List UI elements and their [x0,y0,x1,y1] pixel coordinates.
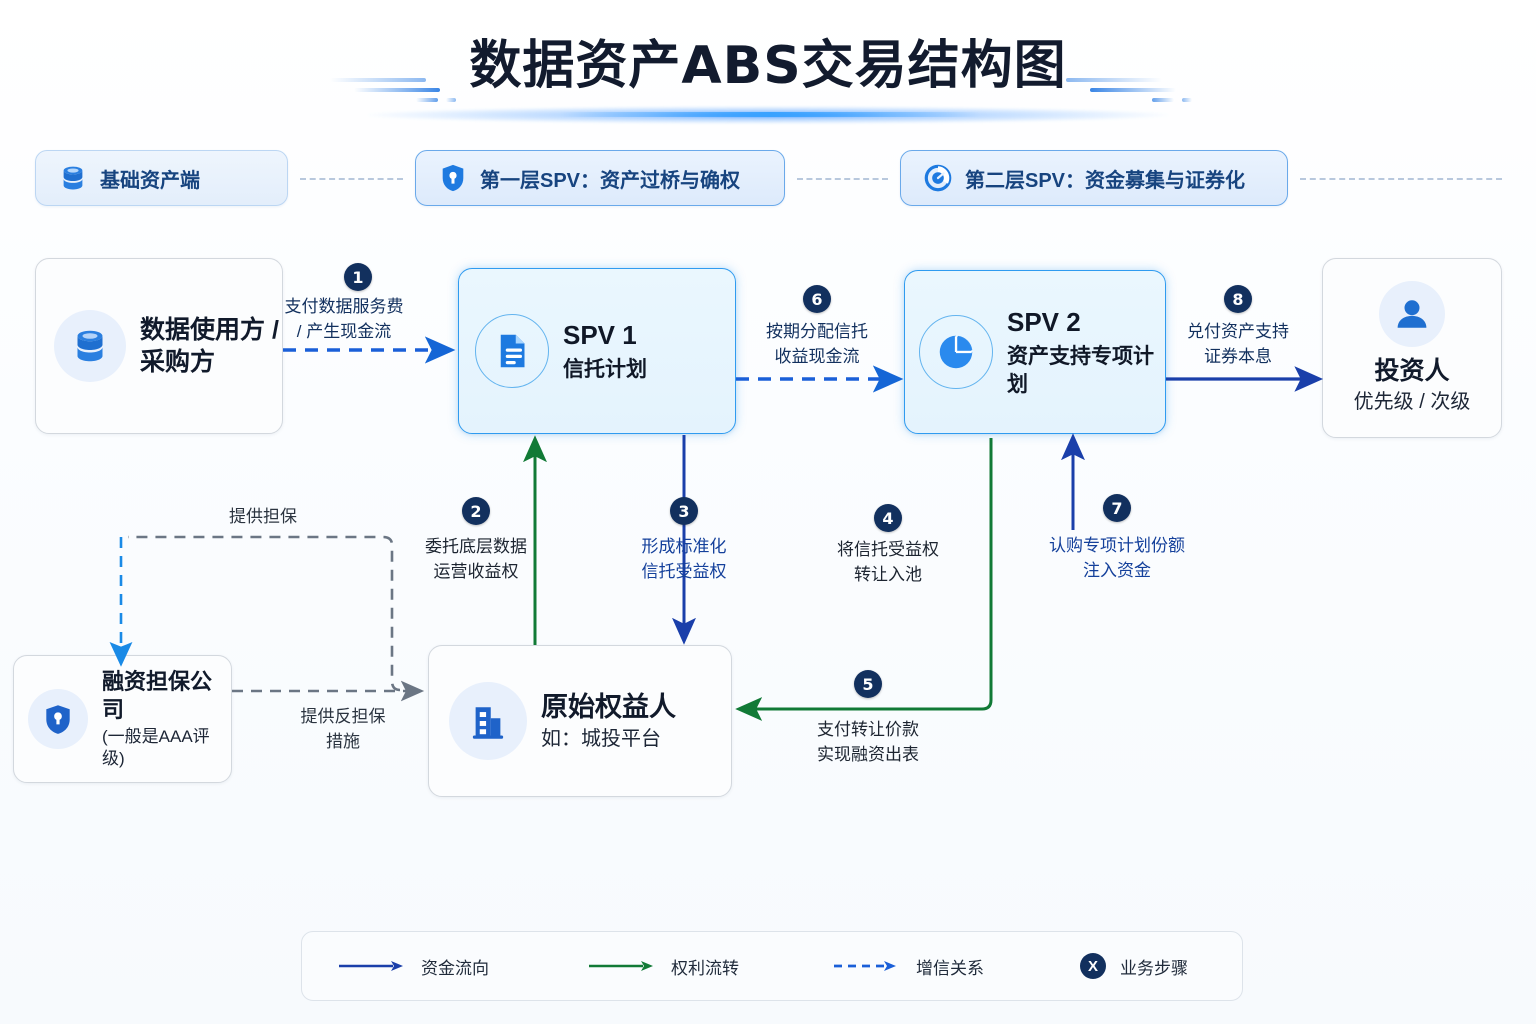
edge-guarantee-dashed-gray [128,537,400,690]
page-title-area: 数据资产ABS交易结构图 [0,24,1536,134]
title-decoration-left [330,76,470,110]
connector-layer [0,0,1536,1024]
page-title: 数据资产ABS交易结构图 [469,24,1066,108]
title-decoration-right [1066,76,1206,110]
edge-5-green-elbow [740,650,991,709]
